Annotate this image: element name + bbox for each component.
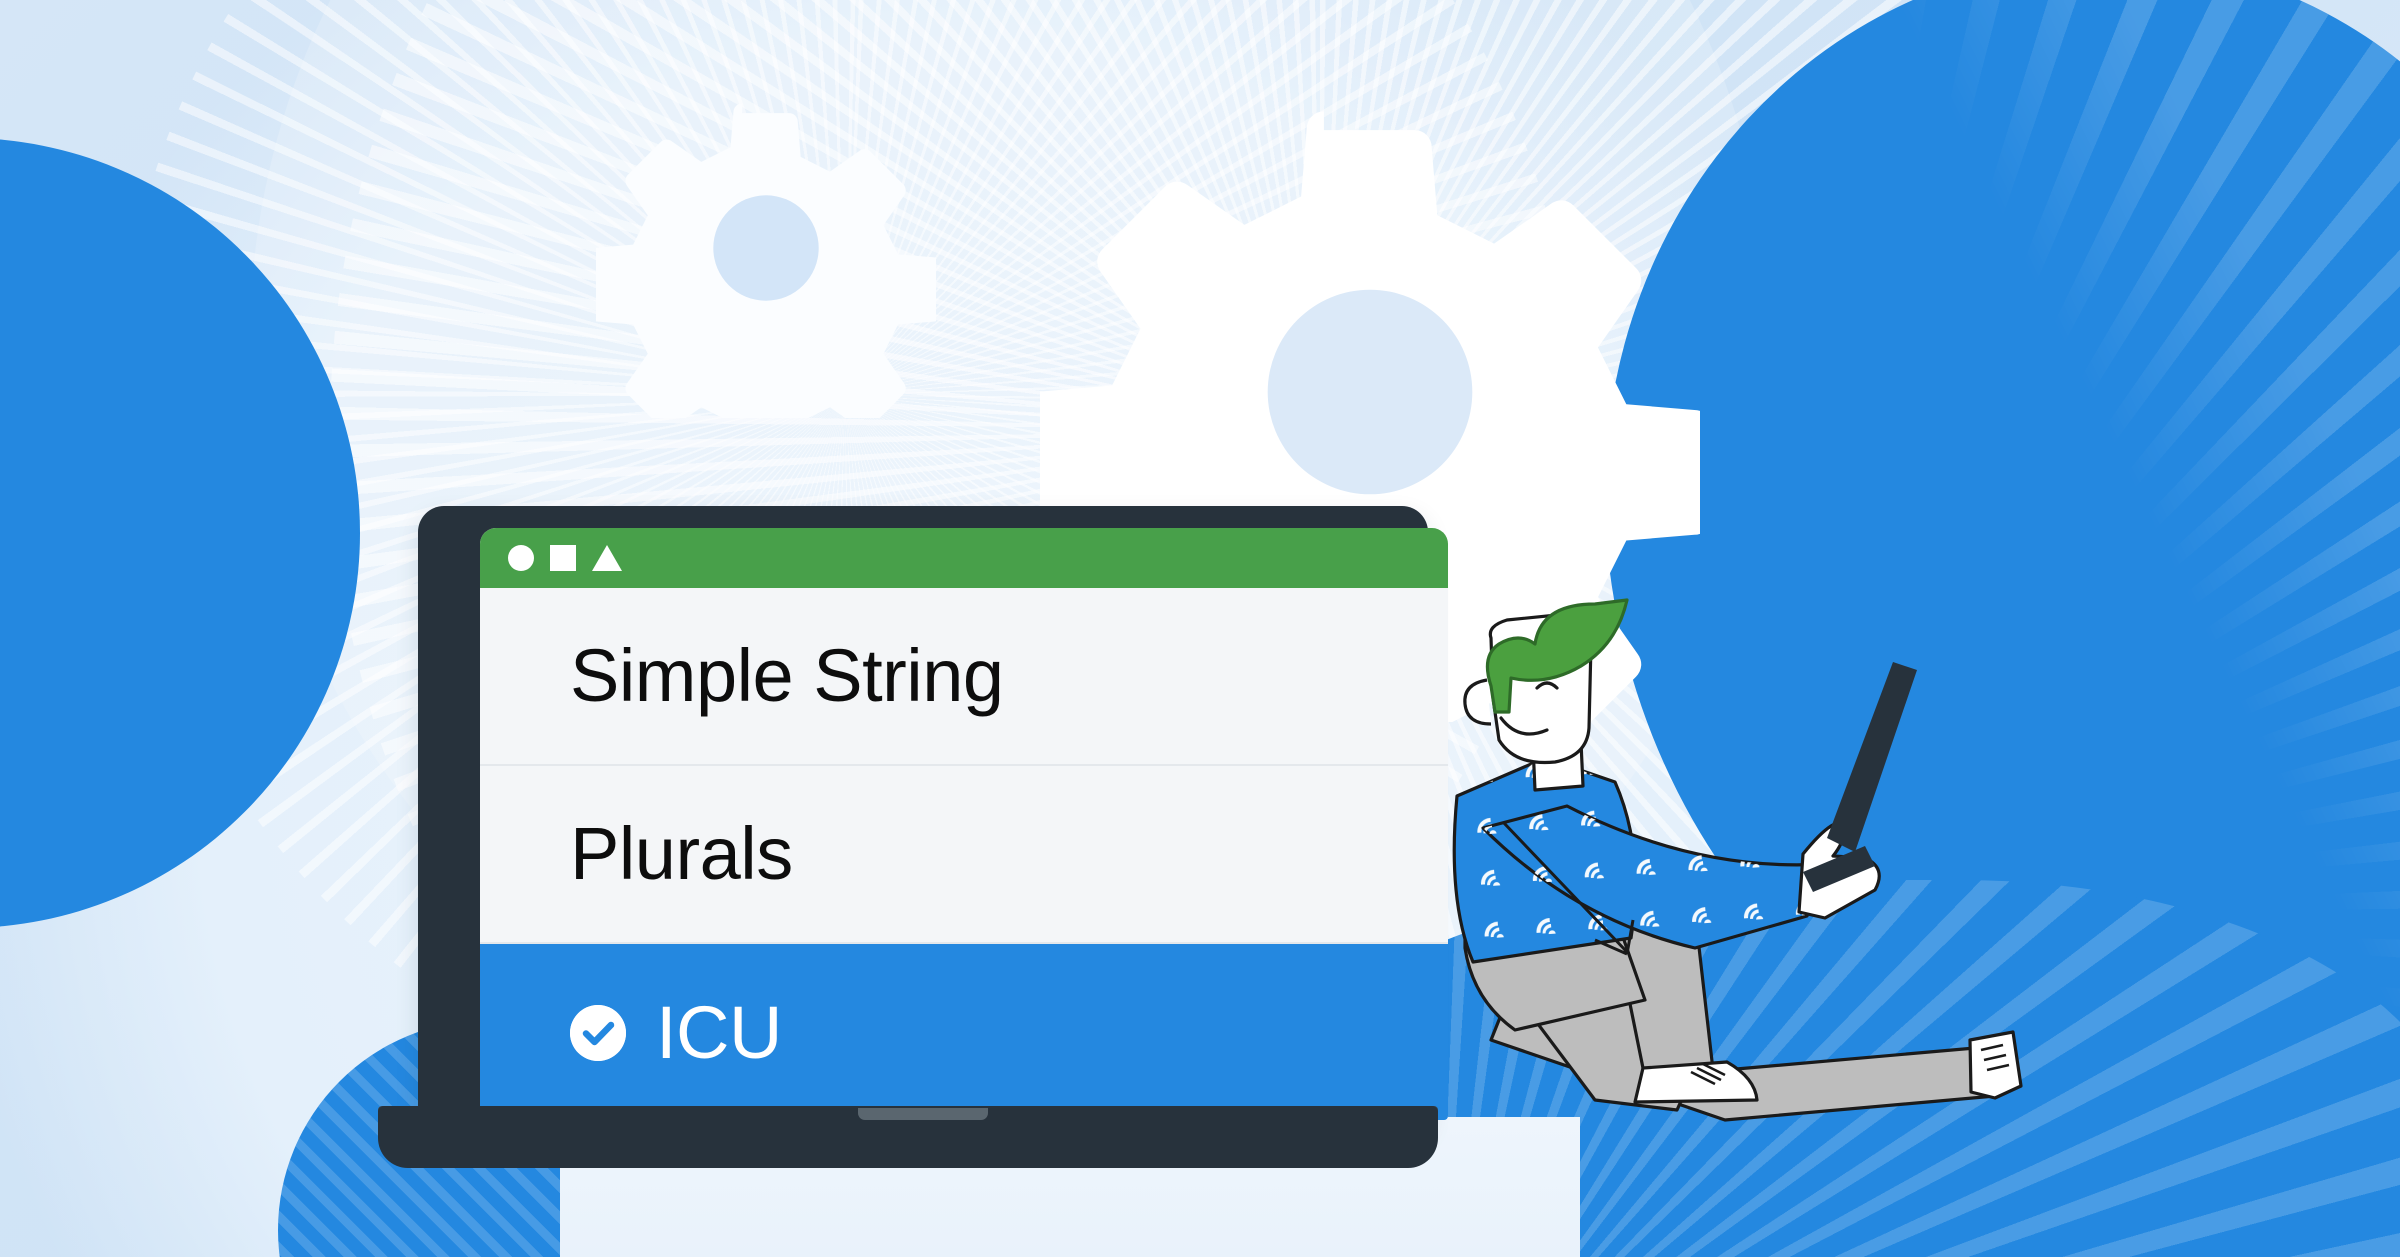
illustration-stage: Simple String Plurals ICU (0, 0, 2400, 1257)
square-control-icon[interactable] (550, 545, 576, 571)
menu-item-label: Simple String (570, 639, 1004, 713)
laptop-device: Simple String Plurals ICU (378, 506, 1428, 1186)
seated-person-illustration (1395, 600, 2185, 1200)
laptop-lid: Simple String Plurals ICU (418, 506, 1428, 1128)
menu-item-label: Plurals (570, 817, 793, 891)
laptop-screen: Simple String Plurals ICU (480, 528, 1448, 1120)
check-circle-icon (570, 1005, 626, 1061)
menu-item-icu[interactable]: ICU (480, 944, 1448, 1120)
menu-item-label: ICU (656, 996, 782, 1070)
laptop-base-notch (858, 1108, 988, 1120)
menu-item-simple-string[interactable]: Simple String (480, 588, 1448, 766)
format-menu-list: Simple String Plurals ICU (480, 588, 1448, 1120)
window-titlebar (480, 528, 1448, 588)
menu-item-plurals[interactable]: Plurals (480, 766, 1448, 944)
small-gear-icon (596, 78, 936, 418)
triangle-control-icon[interactable] (592, 545, 622, 571)
circle-control-icon[interactable] (508, 545, 534, 571)
